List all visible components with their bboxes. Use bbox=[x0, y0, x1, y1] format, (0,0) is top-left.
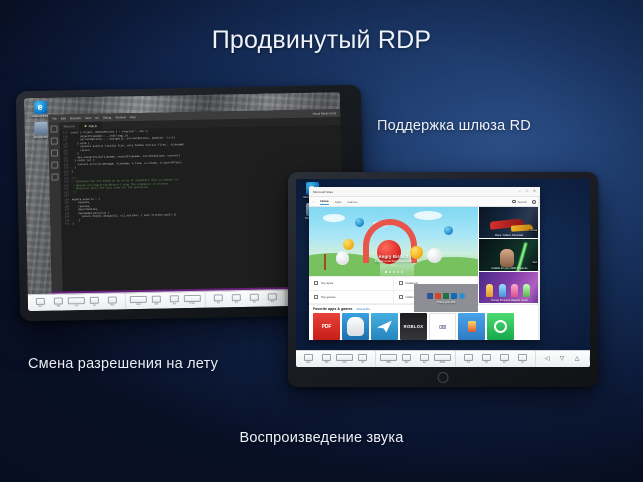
key-label: Del bbox=[155, 303, 158, 305]
key-cap bbox=[322, 354, 331, 361]
microsoft-store-window: Microsoft Store – □ ✕ ‹ Home Apps Games bbox=[309, 187, 540, 340]
search-icon bbox=[512, 200, 516, 204]
tab-home[interactable]: Home bbox=[320, 199, 328, 205]
menu-item-go[interactable]: Go bbox=[95, 116, 99, 120]
window-controls[interactable]: – □ ✕ bbox=[519, 190, 536, 194]
promo-badge: NEW bbox=[531, 262, 538, 265]
code-line-text: */ bbox=[72, 191, 77, 195]
key-cap bbox=[380, 354, 397, 361]
carousel-dot[interactable] bbox=[397, 271, 399, 273]
rdp-key-prtsc[interactable]: PrtSc bbox=[436, 354, 449, 364]
rdp-toolbar-group: ShiftDelInsPrtSc bbox=[376, 351, 456, 367]
rdp-key-left-icon[interactable]: ◁ bbox=[542, 356, 552, 362]
key-label: Ins bbox=[423, 362, 426, 364]
extensions-icon[interactable] bbox=[51, 174, 58, 181]
key-cap bbox=[482, 354, 491, 361]
key-label: F1 bbox=[217, 302, 220, 304]
rdp-toolbar-group: ◁▽△▷ bbox=[536, 351, 590, 367]
menu-item-terminal[interactable]: Terminal bbox=[115, 115, 126, 119]
paper-plane-icon bbox=[377, 321, 392, 333]
hero-caption: Angry Birds 2 Explore a new Angry Birds … bbox=[309, 254, 478, 267]
key-label: F4 bbox=[271, 301, 274, 303]
key-cap bbox=[268, 293, 277, 300]
rdp-key-tab[interactable]: Tab bbox=[52, 298, 65, 308]
carousel-dot[interactable] bbox=[401, 271, 403, 273]
game-icon bbox=[314, 295, 318, 299]
app-tile-glyph: ROBLOX bbox=[404, 324, 424, 329]
tablet-right: e Microsoft Edge Recycle Bin Microsoft S… bbox=[288, 172, 598, 387]
store-nav-bar[interactable]: ‹ Home Apps Games Search bbox=[309, 197, 540, 207]
carousel-dot[interactable] bbox=[393, 271, 395, 273]
avatar[interactable] bbox=[532, 200, 536, 204]
rdp-key-ctrl[interactable]: Ctrl bbox=[70, 297, 83, 307]
key-cap bbox=[108, 297, 117, 304]
promo-caption: Audible for your 1000 Pi games bbox=[479, 267, 540, 270]
key-cap bbox=[358, 354, 367, 361]
recycle-bin-icon bbox=[34, 122, 47, 135]
key-cap bbox=[152, 296, 161, 303]
key-label: Alt bbox=[93, 304, 96, 306]
office-tile-caption: This is your 365 bbox=[437, 301, 455, 304]
rdp-key-esc[interactable]: Esc bbox=[302, 354, 315, 364]
rdp-key-f1[interactable]: F1 bbox=[212, 294, 225, 304]
key-label: F2 bbox=[235, 302, 238, 304]
excel-icon bbox=[443, 293, 449, 299]
bird-yellow-icon bbox=[343, 239, 354, 250]
favorites-heading: Favorite apps & games bbox=[313, 307, 352, 311]
star-icon bbox=[399, 281, 403, 285]
key-cap bbox=[500, 354, 509, 361]
store-title-bar[interactable]: Microsoft Store – □ ✕ bbox=[309, 187, 540, 197]
cloud-decoration bbox=[323, 214, 345, 222]
rdp-toolbar-group: ShiftDelInsPrtSc bbox=[126, 292, 206, 310]
store-hero-banner[interactable]: Angry Birds 2 Explore a new Angry Birds … bbox=[309, 207, 478, 276]
caption-sound-playback: Воспроизведение звука bbox=[0, 430, 643, 446]
character-decoration bbox=[523, 284, 530, 297]
hero-cta[interactable]: Free bbox=[309, 264, 478, 267]
minimize-icon[interactable]: – bbox=[519, 190, 521, 194]
promo-tile-dolby[interactable]: NEW Audible for your 1000 Pi games bbox=[478, 239, 540, 271]
rdp-key-alt[interactable]: Alt bbox=[88, 297, 101, 307]
collection-icon bbox=[399, 295, 403, 299]
promo-caption: Race. Collect. Dominate. bbox=[479, 234, 540, 237]
code-line-number: 141 bbox=[61, 222, 72, 226]
key-cap bbox=[518, 354, 527, 361]
carousel-dots[interactable] bbox=[309, 271, 478, 273]
vscode-menu-right: Visual Studio Code bbox=[313, 111, 337, 115]
key-cap bbox=[336, 354, 353, 361]
app-tile-platform-game[interactable] bbox=[458, 313, 485, 340]
phone-icon bbox=[494, 320, 507, 333]
rdp-key-alt[interactable]: Alt bbox=[356, 354, 369, 364]
promo-badge: FORZA bbox=[529, 229, 538, 232]
cloud-decoration bbox=[414, 211, 442, 220]
app-tile-pdf-reader[interactable]: PDF bbox=[313, 313, 340, 340]
app-tile-ninja-game[interactable] bbox=[342, 313, 369, 340]
quick-link-top-games[interactable]: Top games bbox=[309, 291, 394, 305]
powerpoint-icon bbox=[435, 293, 441, 299]
hero-title: Angry Birds 2 bbox=[309, 254, 478, 259]
editor-tab-label: args.js bbox=[89, 124, 97, 128]
tablet-right-home-button[interactable] bbox=[438, 372, 449, 383]
rdp-key-f3[interactable]: F3 bbox=[498, 354, 511, 364]
code-line-text: } bbox=[72, 222, 74, 226]
close-icon[interactable]: ✕ bbox=[533, 190, 536, 194]
right-rdp-toolbar[interactable]: EscTabCtrlAltShiftDelInsPrtScF1F2F3F4◁▽△… bbox=[296, 350, 590, 367]
key-label: Del bbox=[405, 362, 408, 364]
key-label: Ins bbox=[173, 303, 176, 305]
key-label: F3 bbox=[253, 301, 256, 303]
apps-icon bbox=[314, 281, 318, 285]
app-tile-glyph: PDF bbox=[322, 324, 331, 330]
rdp-key-f2[interactable]: F2 bbox=[230, 294, 243, 304]
store-nav-right: Search bbox=[512, 200, 536, 204]
rdp-toolbar-group: EscTabCtrlAlt bbox=[296, 351, 376, 367]
carousel-dot[interactable] bbox=[385, 271, 387, 273]
rdp-key-esc[interactable]: Esc bbox=[34, 298, 47, 308]
debug-icon[interactable] bbox=[51, 162, 58, 169]
key-label: Win bbox=[110, 304, 114, 306]
caption-rd-gateway: Поддержка шлюза RD bbox=[377, 118, 531, 134]
key-cap bbox=[214, 294, 223, 301]
word-icon bbox=[427, 293, 433, 299]
promo-tile-forza[interactable]: FORZA Race. Collect. Dominate. bbox=[478, 207, 540, 239]
menu-item-view[interactable]: View bbox=[85, 116, 91, 120]
character-decoration bbox=[499, 284, 506, 297]
promo-tile-disney[interactable]: Disney Princess Majestic Quest bbox=[478, 272, 540, 304]
office-365-tile[interactable]: This is your 365 bbox=[414, 284, 478, 312]
key-cap bbox=[420, 354, 429, 361]
outlook-icon bbox=[451, 293, 457, 299]
promo-caption: Disney Princess Majestic Quest bbox=[479, 299, 540, 302]
code-line-text: } bbox=[71, 170, 73, 174]
quick-link-label: Top games bbox=[321, 295, 336, 299]
explorer-icon[interactable] bbox=[50, 126, 57, 133]
app-tile-dolby-access[interactable]: ◫◫ bbox=[429, 313, 456, 340]
rdp-key-ins[interactable]: Ins bbox=[168, 295, 181, 305]
key-label: Ctrl bbox=[343, 362, 347, 364]
caption-resolution-change: Смена разрешения на лету bbox=[28, 356, 218, 372]
key-cap bbox=[36, 298, 45, 305]
tablet-right-screen: e Microsoft Edge Recycle Bin Microsoft S… bbox=[296, 179, 590, 367]
rdp-key-f3[interactable]: F3 bbox=[248, 294, 261, 304]
key-label: F1 bbox=[467, 362, 470, 364]
key-cap bbox=[232, 294, 241, 301]
key-cap bbox=[402, 354, 411, 361]
rdp-key-f4[interactable]: F4 bbox=[516, 354, 529, 364]
platform-character-icon bbox=[468, 321, 476, 332]
store-promo-column: FORZA Race. Collect. Dominate. NEW Audib… bbox=[478, 207, 540, 304]
key-label: Shift bbox=[136, 304, 141, 306]
chevron-left-icon[interactable]: ‹ bbox=[313, 200, 314, 204]
key-cap bbox=[464, 354, 473, 361]
rdp-key-shift[interactable]: Shift bbox=[382, 354, 395, 364]
search-icon[interactable] bbox=[51, 138, 58, 145]
rdp-toolbar-group: F1F2F3F4 bbox=[206, 290, 286, 308]
rdp-key-ins[interactable]: Ins bbox=[418, 354, 431, 364]
bird-blue-icon bbox=[355, 218, 364, 227]
office-app-icons bbox=[427, 293, 465, 299]
key-cap bbox=[68, 297, 85, 304]
key-label: PrtSc bbox=[440, 362, 446, 364]
key-label: Alt bbox=[361, 362, 364, 364]
editor-tab-label: Welcome bbox=[63, 124, 75, 128]
app-tile-roblox[interactable]: ROBLOX bbox=[400, 313, 427, 340]
search-label: Search bbox=[517, 200, 527, 204]
key-cap bbox=[130, 296, 147, 303]
key-label: F3 bbox=[503, 362, 506, 364]
character-decoration bbox=[511, 284, 518, 297]
favorites-show-all-link[interactable]: Show all 50+ bbox=[356, 308, 370, 311]
menu-item-debug[interactable]: Debug bbox=[103, 116, 111, 120]
key-label: PrtSc bbox=[190, 303, 196, 305]
rdp-key-tab[interactable]: Tab bbox=[320, 354, 333, 364]
key-cap bbox=[434, 354, 451, 361]
favorites-app-row[interactable]: PDF ROBLOX ◫◫ bbox=[313, 313, 540, 340]
store-scrollbar[interactable] bbox=[538, 197, 540, 340]
key-label: Tab bbox=[57, 305, 61, 307]
ninja-character-icon bbox=[347, 317, 364, 336]
character-decoration bbox=[486, 284, 493, 297]
rdp-key-win[interactable]: Win bbox=[106, 296, 119, 306]
app-tile-telegram[interactable] bbox=[371, 313, 398, 340]
rdp-toolbar-group: F1F2F3F4 bbox=[456, 351, 536, 367]
edge-icon: e bbox=[34, 101, 47, 114]
quick-link-top-apps[interactable]: Top apps bbox=[309, 277, 394, 291]
key-label: F4 bbox=[521, 362, 524, 364]
store-window-title: Microsoft Store bbox=[313, 190, 333, 194]
tab-games[interactable]: Games bbox=[348, 200, 358, 204]
rdp-key-f4[interactable]: F4 bbox=[266, 293, 279, 303]
onedrive-icon bbox=[459, 293, 465, 299]
rdp-key-del[interactable]: Del bbox=[400, 354, 413, 364]
right-desktop: e Microsoft Edge Recycle Bin Microsoft S… bbox=[296, 179, 590, 367]
key-cap bbox=[250, 294, 259, 301]
rdp-key-right-icon[interactable]: ▷ bbox=[587, 356, 590, 362]
rdp-key-del[interactable]: Del bbox=[150, 296, 163, 306]
key-cap bbox=[184, 295, 201, 302]
search-button[interactable]: Search bbox=[512, 200, 527, 204]
rdp-toolbar-group: EscTabCtrlAltWin bbox=[28, 293, 126, 311]
rdp-key-up-icon[interactable]: △ bbox=[572, 356, 582, 362]
source-control-icon[interactable] bbox=[51, 150, 58, 157]
rdp-key-shift[interactable]: Shift bbox=[132, 296, 145, 306]
menu-item-edit[interactable]: Edit bbox=[61, 116, 66, 120]
maximize-icon[interactable]: □ bbox=[526, 190, 528, 194]
carousel-dot[interactable] bbox=[389, 271, 391, 273]
key-cap bbox=[90, 297, 99, 304]
hero-subtitle: Explore a new Angry Birds world bbox=[309, 260, 478, 263]
rdp-key-ctrl[interactable]: Ctrl bbox=[338, 354, 351, 364]
menu-item-help[interactable]: Help bbox=[130, 115, 136, 119]
tab-apps[interactable]: Apps bbox=[335, 200, 342, 204]
portrait-decoration bbox=[500, 249, 514, 267]
modified-dot-icon bbox=[84, 125, 87, 128]
menu-item-selection[interactable]: Selection bbox=[70, 116, 82, 120]
bird-blue-icon bbox=[444, 226, 453, 235]
rdp-key-f1[interactable]: F1 bbox=[462, 354, 475, 364]
app-tile-whatsapp[interactable] bbox=[487, 313, 514, 340]
rdp-key-f2[interactable]: F2 bbox=[480, 354, 493, 364]
menu-item-file[interactable]: File bbox=[52, 117, 57, 121]
quick-link-label: Top apps bbox=[321, 281, 333, 285]
page-title: Продвинутый RDP bbox=[0, 26, 643, 55]
key-label: Ctrl bbox=[75, 305, 79, 307]
key-label: Tab bbox=[325, 362, 329, 364]
key-cap bbox=[170, 295, 179, 302]
key-label: Shift bbox=[386, 362, 391, 364]
dolby-logo-icon: ◫◫ bbox=[439, 324, 446, 329]
rdp-key-down-icon[interactable]: ▽ bbox=[557, 356, 567, 362]
key-label: F2 bbox=[485, 362, 488, 364]
key-label: Esc bbox=[307, 362, 311, 364]
key-label: Esc bbox=[39, 305, 43, 307]
key-cap bbox=[304, 354, 313, 361]
key-cap bbox=[54, 298, 63, 305]
vscode-window-label: Visual Studio Code bbox=[313, 111, 337, 115]
rdp-key-prtsc[interactable]: PrtSc bbox=[186, 295, 199, 305]
